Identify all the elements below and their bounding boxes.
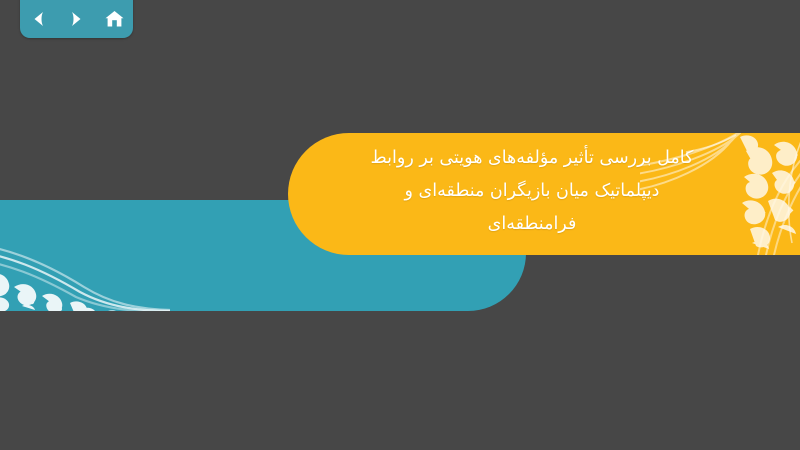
title-line-2: دیپلماتیک میان بازیگران منطقه‌ای و [332, 175, 732, 208]
back-button[interactable] [25, 6, 53, 32]
title-line-3: فرامنطقه‌ای [332, 208, 732, 241]
title-line-1: کامل بررسی تأثیر مؤلفه‌های هویتی بر رواب… [332, 142, 732, 175]
slide-canvas: کامل بررسی تأثیر مؤلفه‌های هویتی بر رواب… [0, 0, 800, 450]
navigation-bar [20, 0, 133, 38]
triangle-left-icon [29, 9, 49, 29]
slide-title: کامل بررسی تأثیر مؤلفه‌های هویتی بر رواب… [332, 142, 732, 241]
home-button[interactable] [100, 6, 128, 32]
title-banner: کامل بررسی تأثیر مؤلفه‌های هویتی بر رواب… [288, 133, 800, 255]
forward-button[interactable] [62, 6, 90, 32]
home-icon [104, 9, 125, 29]
triangle-right-icon [66, 9, 86, 29]
islimi-corner-ornament [0, 219, 170, 311]
